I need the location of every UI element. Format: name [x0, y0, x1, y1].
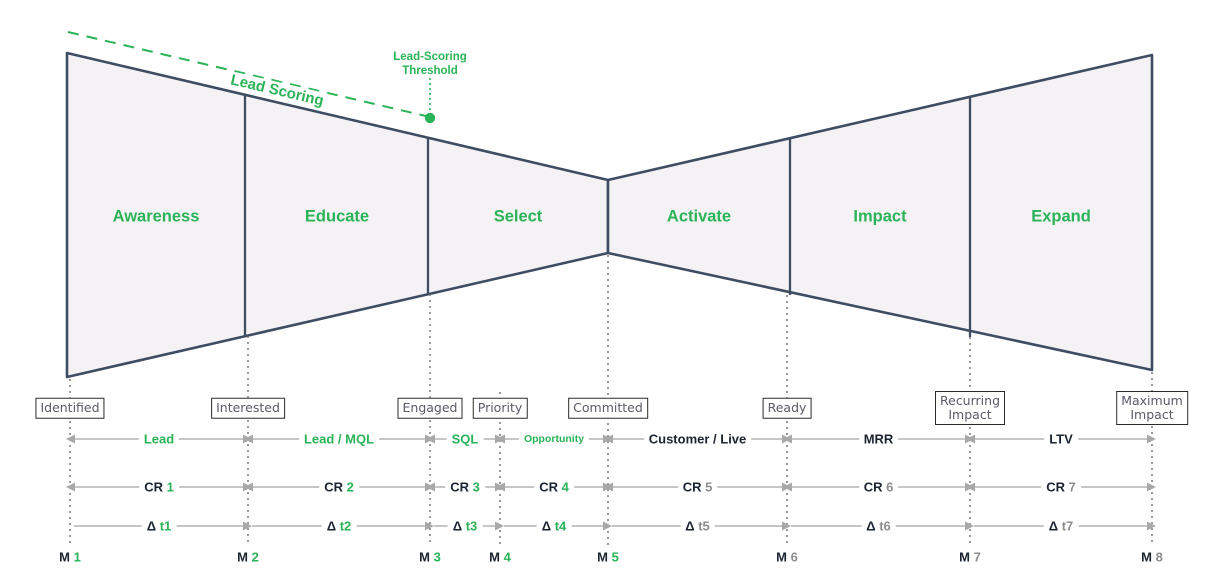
stage-label-impact: Impact: [853, 208, 906, 227]
metric-arrow-rows: [74, 439, 1148, 526]
lead-scoring-threshold-label: Lead-Scoring Threshold: [393, 50, 466, 78]
time-delta-label-t3: Δ t3: [448, 519, 483, 534]
milestone-number-8: M 8: [1141, 550, 1163, 565]
milestone-box-ready[interactable]: Ready: [763, 398, 812, 419]
time-delta-label-t6: Δ t6: [861, 519, 896, 534]
conversion-rate-label-1: CR 1: [139, 480, 179, 495]
milestone-box-identified[interactable]: Identified: [35, 398, 104, 419]
stage-label-activate: Activate: [667, 208, 731, 227]
milestone-box-recurring-impact[interactable]: RecurringImpact: [935, 391, 1005, 425]
object-label-ltv: LTV: [1044, 432, 1078, 447]
conversion-rate-label-5: CR 5: [678, 480, 718, 495]
conversion-rate-label-6: CR 6: [859, 480, 899, 495]
milestone-box-maximum-impact[interactable]: MaximumImpact: [1116, 391, 1188, 425]
diagram-canvas: [0, 0, 1229, 586]
milestone-box-priority[interactable]: Priority: [473, 398, 528, 419]
object-label-lead: Lead: [139, 432, 179, 447]
stage-label-expand: Expand: [1031, 208, 1091, 227]
object-label-lead-mql: Lead / MQL: [299, 432, 379, 447]
milestone-number-7: M 7: [959, 550, 981, 565]
conversion-rate-label-3: CR 3: [445, 480, 485, 495]
time-delta-label-t4: Δ t4: [537, 519, 572, 534]
object-label-customer-live: Customer / Live: [644, 432, 752, 447]
time-delta-label-t2: Δ t2: [322, 519, 357, 534]
funnel-body: [67, 53, 1152, 377]
milestone-box-committed[interactable]: Committed: [568, 398, 648, 419]
milestone-number-1: M 1: [59, 550, 81, 565]
milestone-number-2: M 2: [237, 550, 259, 565]
conversion-rate-label-7: CR 7: [1041, 480, 1081, 495]
milestone-number-6: M 6: [776, 550, 798, 565]
object-label-sql: SQL: [447, 432, 484, 447]
threshold-label-line1: Lead-Scoring: [393, 50, 466, 64]
time-delta-label-t7: Δ t7: [1044, 519, 1079, 534]
conversion-rate-label-2: CR 2: [319, 480, 359, 495]
milestone-box-interested[interactable]: Interested: [211, 398, 285, 419]
milestone-box-engaged[interactable]: Engaged: [398, 398, 463, 419]
stage-label-educate: Educate: [305, 208, 369, 227]
milestone-number-4: M 4: [489, 550, 511, 565]
stage-label-awareness: Awareness: [113, 208, 200, 227]
threshold-dot: [425, 113, 435, 123]
milestone-number-3: M 3: [419, 550, 441, 565]
object-label-mrr: MRR: [859, 432, 899, 447]
time-delta-label-t1: Δ t1: [142, 519, 177, 534]
conversion-rate-label-4: CR 4: [534, 480, 574, 495]
milestone-number-5: M 5: [597, 550, 619, 565]
object-label-opportunity: Opportunity: [519, 433, 589, 445]
threshold-label-line2: Threshold: [393, 64, 466, 78]
funnel-diagram: AwarenessEducateSelectActivateImpactExpa…: [0, 0, 1229, 586]
time-delta-label-t5: Δ t5: [680, 519, 715, 534]
stage-label-select: Select: [494, 208, 543, 227]
